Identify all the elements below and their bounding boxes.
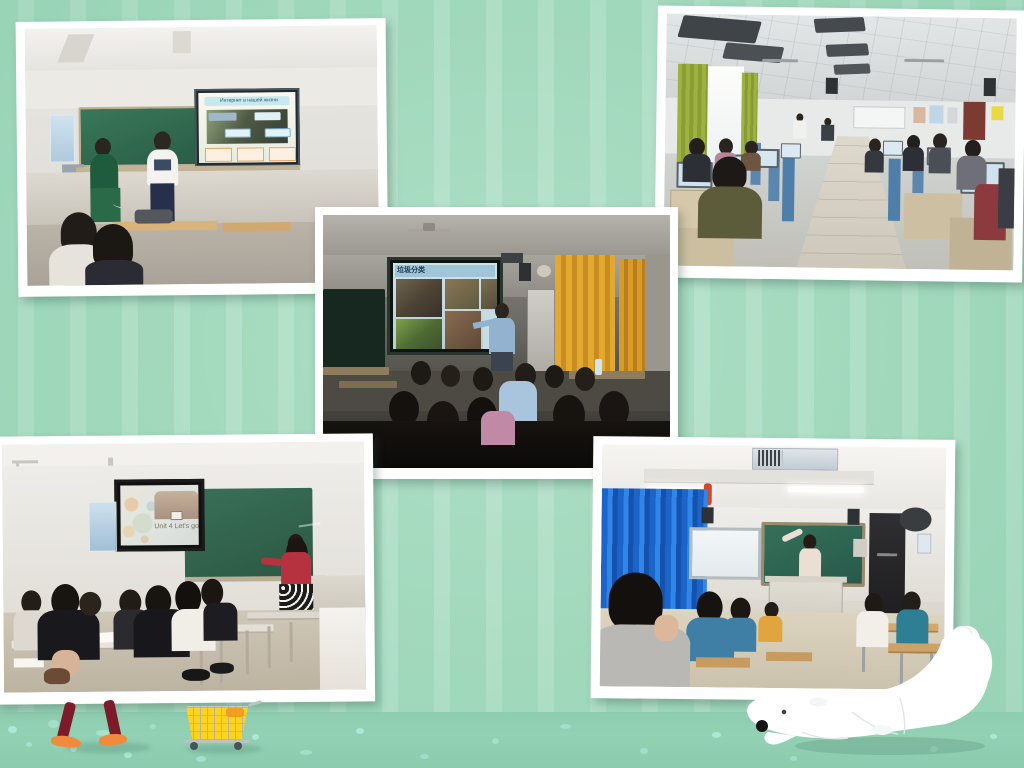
wall-speaker [826,78,838,94]
ceiling-beam-2 [173,31,191,53]
slide-photo [445,311,481,349]
presenter-2-tshirt-print [154,159,171,170]
teacher-body [281,552,311,586]
foreground-student-arm [654,615,678,641]
slide-surface: 垃圾分类 [393,263,497,349]
teacher-body [793,120,806,138]
audience-head [473,367,493,391]
projector-screen: Интернет в нашей жизни [194,88,300,167]
whiteboard [853,106,905,129]
slide-node [209,113,237,121]
wall-speaker [519,263,531,281]
slide-node [205,148,232,162]
audience-body-pink [481,411,515,445]
ceiling-fan [762,59,798,63]
collage-slide: Интернет в нашей жизни [0,0,1024,768]
teacher-body [821,125,834,141]
row-desk [339,381,397,388]
slide-illustration-door [170,511,182,520]
cart-wheel [234,742,242,750]
bulkhead [644,469,874,485]
audience-head [545,365,564,388]
wall-poster [917,534,931,554]
bag-on-desk [135,209,173,223]
orange-curtain [555,255,615,383]
foreground-student-body [698,186,763,239]
cart-contents [226,708,244,717]
chalkboard [323,289,385,371]
ceiling [2,441,364,466]
teacher-body [799,548,821,578]
cabinet-handles [877,553,897,556]
audience-head [575,367,595,391]
projector-screen: 垃圾分类 [387,257,503,355]
student-body [85,260,143,286]
student-body [903,147,924,171]
slide-photo [445,279,479,309]
projector-screen: Unit 4 Let's go [114,479,205,552]
security-camera [537,265,551,277]
water-bottle [595,359,602,375]
wall-speaker [984,78,996,96]
polar-bear-icon [740,620,996,760]
slide-node [265,128,291,137]
slide-title-text: Unit 4 Let's go [149,523,199,530]
projector-mount [501,253,523,263]
scene-bottom-left: Unit 4 Let's go [2,441,366,692]
workstation-partition [888,159,901,221]
wall-panel [853,539,867,557]
slide-surface: Unit 4 Let's go [120,485,199,546]
teacher-head [803,534,816,549]
podium-top [765,576,847,583]
chair-leg [220,635,223,683]
ceiling-fan-hub [423,223,435,231]
student-body [865,150,884,172]
orange-curtain-right [619,259,647,377]
wall-speaker [701,507,713,523]
chair-leg [246,630,249,674]
student-desk [247,612,323,621]
chair-leg [268,626,271,668]
cart-wheel [190,742,198,750]
ceiling-ac-vent [758,450,782,466]
slide-photo [396,319,442,349]
wall-poster [50,114,76,162]
slide-photo [396,279,442,317]
wall-poster [913,107,925,123]
microphone-cable [112,193,150,209]
polar-bear-decoration [740,620,996,760]
wall-poster [947,107,957,123]
white-cloth [319,607,366,689]
wall-poster [929,105,943,123]
walking-legs-decoration [55,700,165,760]
chair-leg [289,622,292,662]
ceiling-light-panel [814,17,866,33]
wall-fan [899,507,931,531]
ceiling-light-panel [825,43,869,57]
presenter-1-body [90,154,118,192]
front-desk-2 [223,222,291,232]
monitor [883,141,903,156]
slide-bubble [123,525,135,537]
wall-poster [88,502,116,552]
fluorescent-light [788,486,864,493]
slide-node [225,128,251,137]
slide-bubble [141,535,149,543]
audience-head [441,365,460,387]
slide-bubble [124,497,138,511]
photo-top-right[interactable] [654,5,1024,282]
student-body [998,168,1017,228]
student-shoe [210,663,234,674]
cart-handle [248,700,262,707]
student-body [682,154,710,182]
student-head [79,592,101,616]
student-body [203,603,237,641]
slide-node [269,147,296,161]
student-shoe [182,669,210,681]
lecturer-head [495,303,509,319]
photo-bottom-left[interactable]: Unit 4 Let's go [0,433,375,704]
whiteboard [689,527,762,580]
air-conditioner [527,289,555,375]
slide-node [255,112,281,120]
shopping-cart-decoration [182,700,264,762]
audience-head [411,361,431,385]
right-wall [645,255,670,385]
ceiling [323,215,670,255]
slide-node [237,147,264,161]
scene-computer-lab [663,14,1016,271]
slide-title-text: Интернет в нашей жизни [212,96,285,106]
student-body [929,147,951,173]
scene-center-lecture: 垃圾分类 [323,215,670,468]
ceiling-fan [904,59,944,63]
ceiling-light-panel [833,63,870,74]
student-body [686,617,734,662]
workstation-partition [782,157,795,221]
door [963,102,986,140]
student-shoe [44,668,70,684]
wall-poster [991,106,1003,120]
slide-photo [481,279,497,309]
slide-surface: Интернет в нашей жизни [198,92,296,163]
slide-header-text: 垃圾分类 [397,265,425,277]
wall-speaker [847,509,859,525]
monitor [781,143,801,158]
left-shoe [51,734,82,748]
row-desk [323,367,389,375]
